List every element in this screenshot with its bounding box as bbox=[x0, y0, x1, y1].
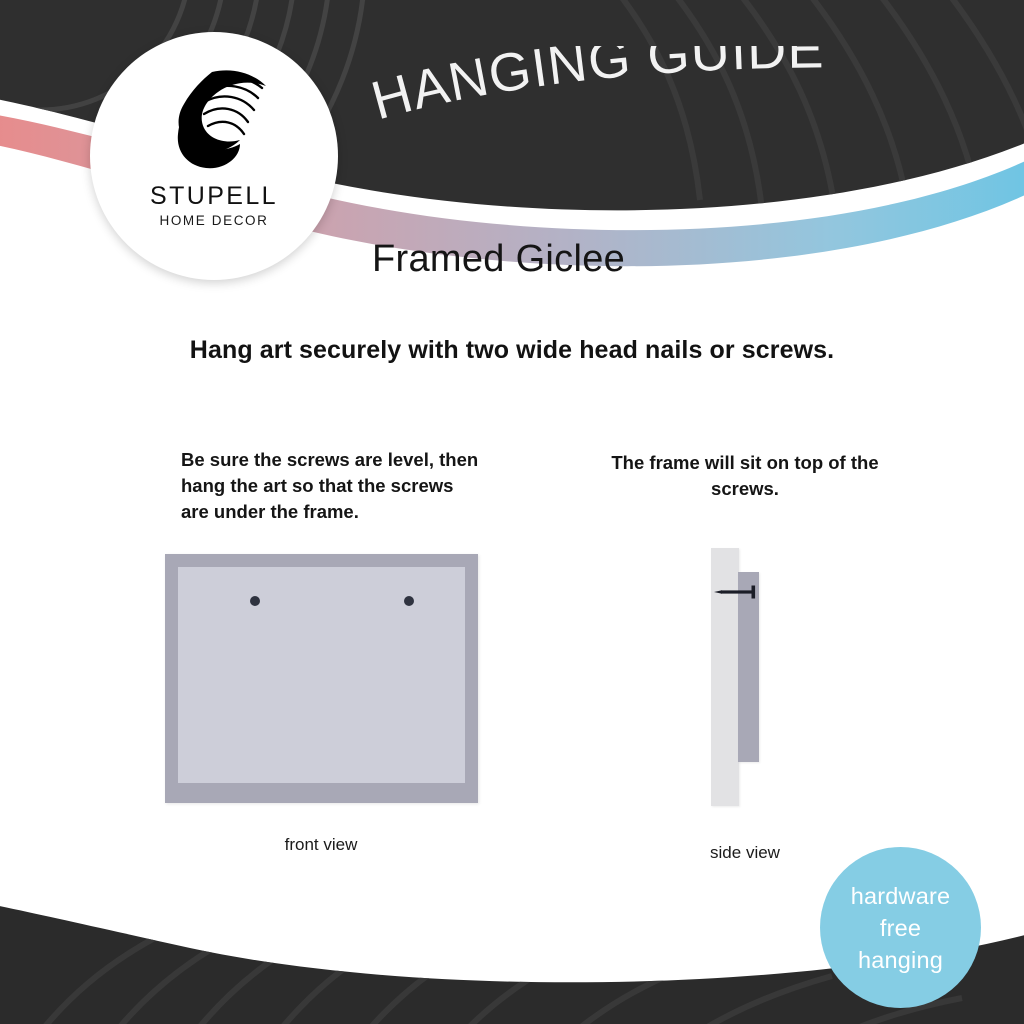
hanging-guide-page: HANGING GUIDE STUPELL HOME DECOR Framed … bbox=[0, 0, 1024, 1024]
front-view-label: front view bbox=[176, 835, 466, 855]
brand-wordmark: STUPELL bbox=[150, 182, 278, 211]
front-view-frame-diagram bbox=[165, 554, 478, 803]
side-view-caption: The frame will sit on top of the screws. bbox=[600, 450, 890, 502]
side-view-frame-diagram bbox=[700, 540, 810, 820]
hardware-free-hanging-badge: hardware free hanging bbox=[820, 847, 981, 1008]
front-view-mat-area bbox=[178, 567, 465, 783]
nail-icon bbox=[712, 584, 760, 600]
product-type-heading: Framed Giclee bbox=[372, 238, 625, 281]
hardware-free-hanging-badge-text: hardware free hanging bbox=[851, 880, 951, 976]
screw-dot-left-icon bbox=[250, 596, 260, 606]
side-view-frame bbox=[738, 572, 759, 762]
side-view-label: side view bbox=[620, 843, 870, 863]
screw-dot-right-icon bbox=[404, 596, 414, 606]
brand-sub-wordmark: HOME DECOR bbox=[159, 213, 268, 228]
page-title: HANGING GUIDE bbox=[372, 46, 892, 136]
stupell-swoosh-logo-icon bbox=[154, 58, 274, 178]
front-view-caption: Be sure the screws are level, then hang … bbox=[181, 447, 481, 525]
lead-instruction-text: Hang art securely with two wide head nai… bbox=[0, 336, 1024, 365]
page-title-text: HANGING GUIDE bbox=[372, 46, 825, 131]
brand-logo-badge: STUPELL HOME DECOR bbox=[90, 32, 338, 280]
